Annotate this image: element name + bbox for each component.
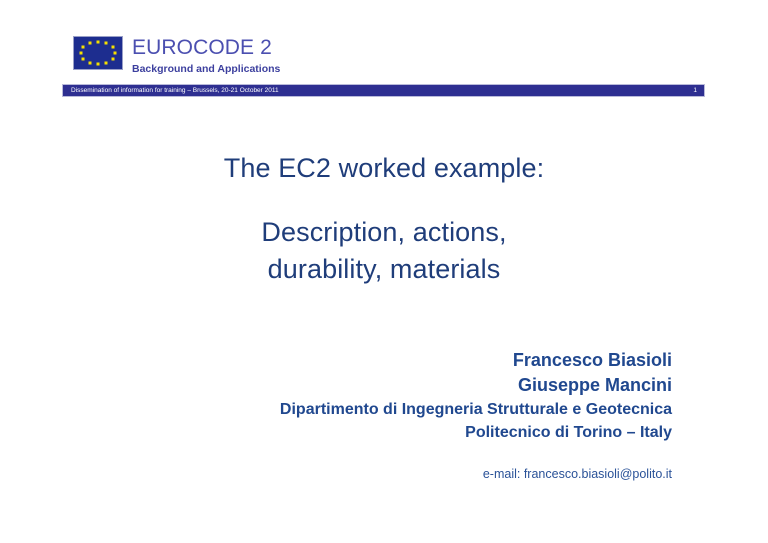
- slide-page-number: 1: [693, 85, 697, 96]
- slide-header: EUROCODE 2 Background and Applications D…: [0, 0, 768, 105]
- page-subtitle-line-1: Description, actions,: [0, 214, 768, 251]
- author-institution: Politecnico di Torino – Italy: [280, 421, 672, 444]
- ribbon-label: Dissemination of information for trainin…: [71, 85, 279, 96]
- slide-title-block: The EC2 worked example: Description, act…: [0, 150, 768, 288]
- page-subtitle-line-2: durability, materials: [0, 251, 768, 288]
- author-name-secondary: Giuseppe Mancini: [280, 373, 672, 398]
- author-department: Dipartimento di Ingegneria Strutturale e…: [280, 398, 672, 421]
- brand-title: EUROCODE 2: [132, 36, 280, 60]
- brand-lockup: EUROCODE 2 Background and Applications: [73, 36, 280, 77]
- contact-email: e-mail: francesco.biasioli@polito.it: [483, 465, 672, 483]
- author-name-primary: Francesco Biasioli: [280, 348, 672, 373]
- dissemination-ribbon: Dissemination of information for trainin…: [62, 84, 705, 97]
- brand-text-group: EUROCODE 2 Background and Applications: [132, 36, 280, 77]
- brand-subtitle: Background and Applications: [132, 61, 280, 77]
- title-spacer: [0, 186, 768, 214]
- page-title: The EC2 worked example:: [0, 150, 768, 186]
- eu-flag-icon: [73, 36, 123, 70]
- author-block: Francesco Biasioli Giuseppe Mancini Dipa…: [280, 348, 672, 444]
